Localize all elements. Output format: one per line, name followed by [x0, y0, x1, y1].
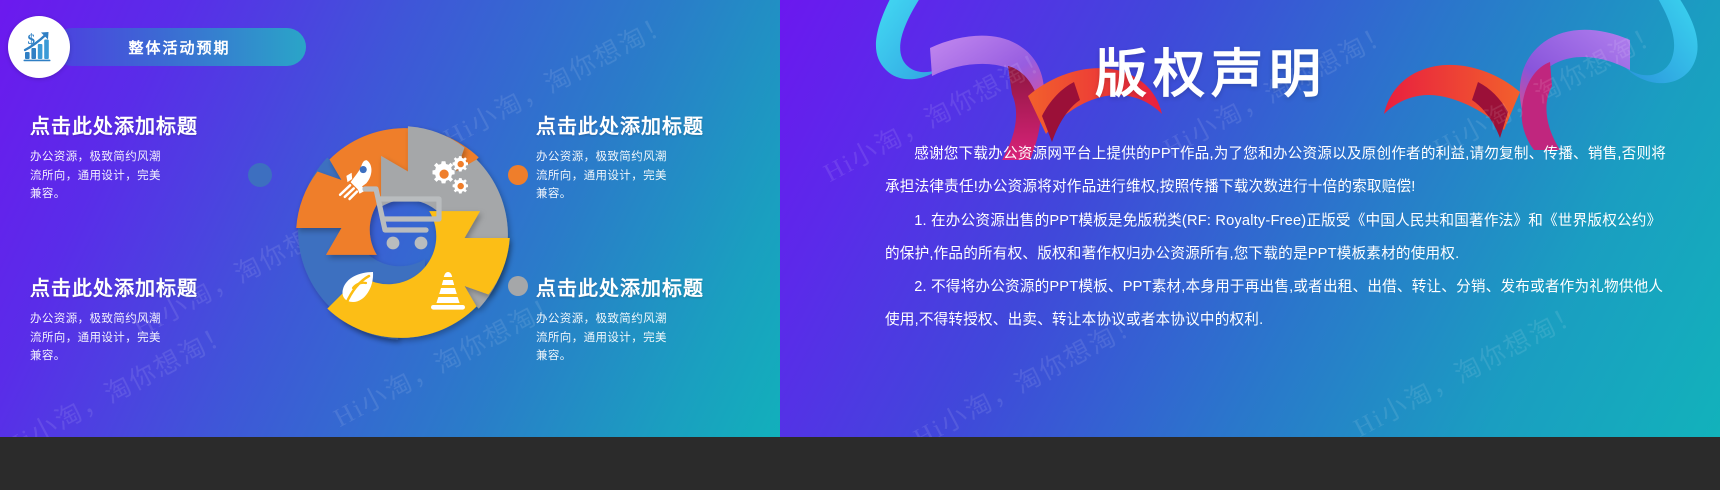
block-title: 点击此处添加标题 [30, 272, 198, 301]
copyright-paragraph: 1. 在办公资源出售的PPT模板是免版税类(RF: Royalty-Free)正… [885, 205, 1675, 272]
text-block-top-left[interactable]: 点击此处添加标题 办公资源，极致简约风潮流所向，通用设计，完美兼容。 [30, 110, 198, 204]
page-title: 整体活动预期 [128, 37, 230, 58]
shopping-cart-icon [365, 189, 439, 249]
copyright-paragraph: 2. 不得将办公资源的PPT模板、PPT素材,本身用于再出售,或者出租、出借、转… [885, 271, 1675, 338]
copyright-paragraph: 感谢您下载办公资源网平台上提供的PPT作品,为了您和办公资源以及原创作者的利益,… [885, 138, 1675, 205]
block-description: 办公资源，极致简约风潮流所向，通用设计，完美兼容。 [536, 310, 668, 366]
marker-dot-left [248, 163, 272, 187]
cycle-diagram [278, 108, 528, 358]
block-title: 点击此处添加标题 [536, 272, 704, 301]
block-description: 办公资源，极致简约风潮流所向，通用设计，完美兼容。 [30, 148, 162, 204]
block-title: 点击此处添加标题 [30, 110, 198, 139]
slide-deck: Hi小淘，淘你想淘！ Hi小淘，淘你想淘！ Hi小淘，淘你想淘！ Hi小淘，淘你… [0, 0, 1720, 490]
text-block-bottom-left[interactable]: 点击此处添加标题 办公资源，极致简约风潮流所向，通用设计，完美兼容。 [30, 272, 198, 366]
block-title: 点击此处添加标题 [536, 110, 704, 139]
text-block-bottom-right[interactable]: 点击此处添加标题 办公资源，极致简约风潮流所向，通用设计，完美兼容。 [536, 272, 704, 366]
ribbon-decoration-right [1380, 0, 1720, 150]
growth-chart-dollar-icon: $ [8, 16, 70, 78]
text-block-top-right[interactable]: 点击此处添加标题 办公资源，极致简约风潮流所向，通用设计，完美兼容。 [536, 110, 704, 204]
svg-text:$: $ [28, 32, 36, 48]
block-description: 办公资源，极致简约风潮流所向，通用设计，完美兼容。 [536, 148, 668, 204]
slide-copyright-statement: Hi小淘，淘你想淘！ Hi小淘，淘你想淘！ Hi小淘，淘你想淘！ Hi小淘，淘你… [780, 0, 1720, 437]
copyright-body: 感谢您下载办公资源网平台上提供的PPT作品,为了您和办公资源以及原创作者的利益,… [885, 138, 1675, 338]
header-title-pill: 整体活动预期 [53, 28, 306, 66]
block-description: 办公资源，极致简约风潮流所向，通用设计，完美兼容。 [30, 310, 162, 366]
slide-overall-activity-expectation: Hi小淘，淘你想淘！ Hi小淘，淘你想淘！ Hi小淘，淘你想淘！ Hi小淘，淘你… [0, 0, 780, 437]
copyright-title: 版权声明 [1095, 32, 1327, 107]
